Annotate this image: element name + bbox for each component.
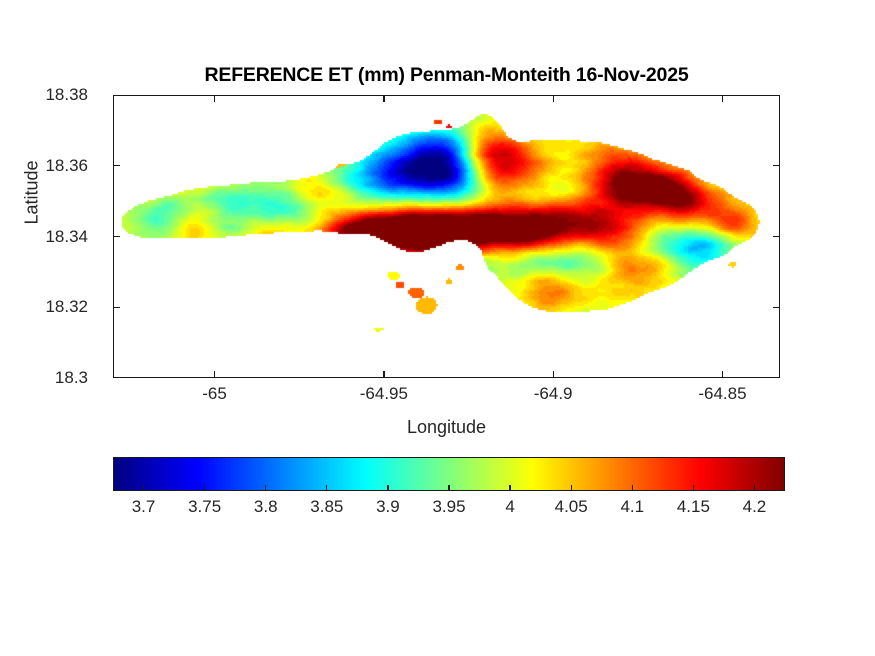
x-tick-mark bbox=[722, 95, 723, 102]
y-axis-label: Latitude bbox=[22, 113, 43, 273]
colorbar-tick-mark bbox=[571, 485, 572, 491]
x-tick-mark bbox=[722, 371, 723, 378]
x-tick-label: -64.9 bbox=[534, 384, 573, 404]
x-tick-mark bbox=[214, 95, 215, 102]
colorbar-tick-mark bbox=[387, 485, 388, 491]
colorbar-tick-mark bbox=[632, 485, 633, 491]
y-tick-mark bbox=[113, 165, 120, 166]
x-tick-label: -64.85 bbox=[698, 384, 746, 404]
colorbar-tick-mark bbox=[509, 485, 510, 491]
x-tick-label: -65 bbox=[202, 384, 227, 404]
colorbar-tick-label: 3.9 bbox=[376, 497, 400, 517]
colorbar-tick-label: 3.8 bbox=[254, 497, 278, 517]
x-tick-mark bbox=[553, 95, 554, 102]
colorbar-tick-mark bbox=[143, 485, 144, 491]
map-axes bbox=[113, 95, 780, 378]
colorbar-tick-label: 4.05 bbox=[555, 497, 588, 517]
y-tick-label: 18.34 bbox=[45, 227, 88, 247]
y-tick-mark bbox=[113, 307, 120, 308]
x-tick-mark bbox=[214, 371, 215, 378]
y-tick-mark bbox=[773, 307, 780, 308]
y-tick-label: 18.32 bbox=[45, 297, 88, 317]
x-tick-mark bbox=[383, 95, 384, 102]
colorbar-tick-mark bbox=[754, 485, 755, 491]
x-axis-label: Longitude bbox=[113, 417, 780, 438]
colorbar-tick-label: 3.95 bbox=[432, 497, 465, 517]
colorbar-tick-label: 3.7 bbox=[132, 497, 156, 517]
page-title: REFERENCE ET (mm) Penman-Monteith 16-Nov… bbox=[113, 64, 780, 87]
x-tick-label: -64.95 bbox=[360, 384, 408, 404]
y-tick-label: 18.38 bbox=[45, 85, 88, 105]
colorbar-tick-label: 3.75 bbox=[188, 497, 221, 517]
colorbar-tick-label: 4 bbox=[505, 497, 514, 517]
y-tick-label: 18.3 bbox=[55, 368, 88, 388]
colorbar-tick-mark bbox=[204, 485, 205, 491]
colorbar-tick-label: 4.15 bbox=[677, 497, 710, 517]
colorbar-tick-mark bbox=[693, 485, 694, 491]
x-tick-mark bbox=[553, 371, 554, 378]
colorbar-tick-label: 4.1 bbox=[620, 497, 644, 517]
reference-et-heatmap bbox=[114, 96, 779, 377]
x-tick-mark bbox=[383, 371, 384, 378]
y-tick-mark bbox=[773, 236, 780, 237]
colorbar-tick-mark bbox=[448, 485, 449, 491]
y-tick-mark bbox=[113, 236, 120, 237]
colorbar-tick-label: 4.2 bbox=[743, 497, 767, 517]
colorbar-tick-mark bbox=[265, 485, 266, 491]
colorbar-tick-mark bbox=[326, 485, 327, 491]
colorbar-tick-label: 3.85 bbox=[310, 497, 343, 517]
y-tick-mark bbox=[773, 165, 780, 166]
y-tick-label: 18.36 bbox=[45, 156, 88, 176]
matlab-figure: REFERENCE ET (mm) Penman-Monteith 16-Nov… bbox=[0, 0, 875, 656]
